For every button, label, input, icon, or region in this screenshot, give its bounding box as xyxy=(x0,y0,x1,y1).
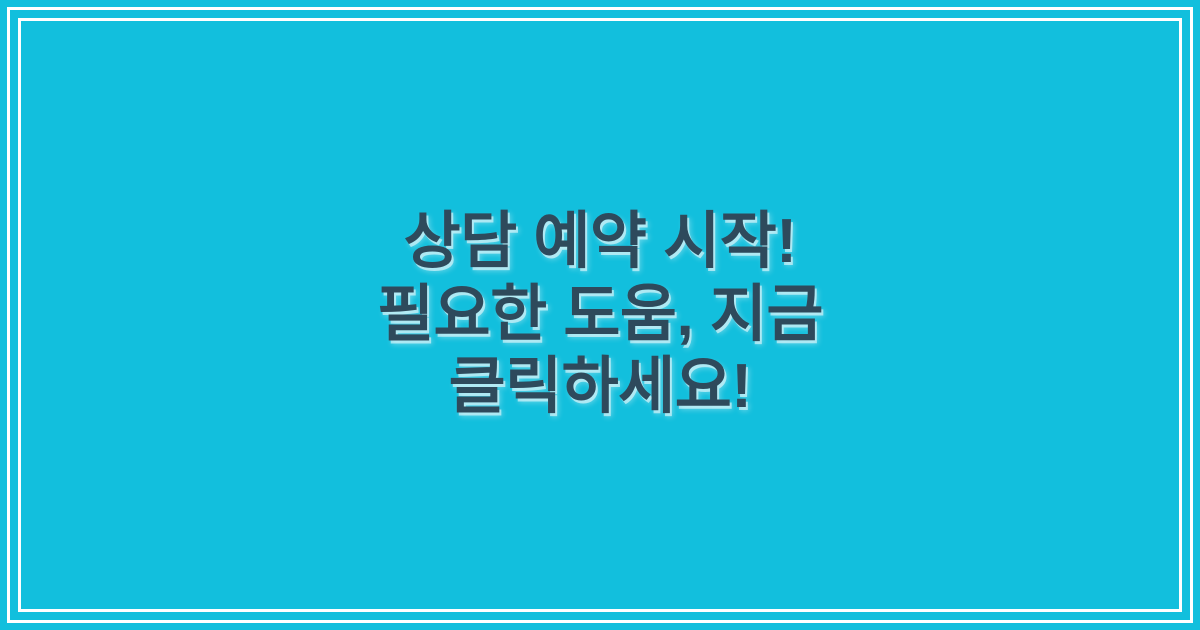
banner-content: 상담 예약 시작! 필요한 도움, 지금 클릭하세요! xyxy=(0,0,1200,630)
headline: 상담 예약 시작! 필요한 도움, 지금 클릭하세요! xyxy=(317,206,883,424)
promo-banner: 상담 예약 시작! 필요한 도움, 지금 클릭하세요! xyxy=(0,0,1200,630)
headline-line-2: 필요한 도움, 지금 xyxy=(377,279,823,352)
headline-line-1: 상담 예약 시작! xyxy=(377,206,823,279)
headline-line-3: 클릭하세요! xyxy=(377,351,823,424)
